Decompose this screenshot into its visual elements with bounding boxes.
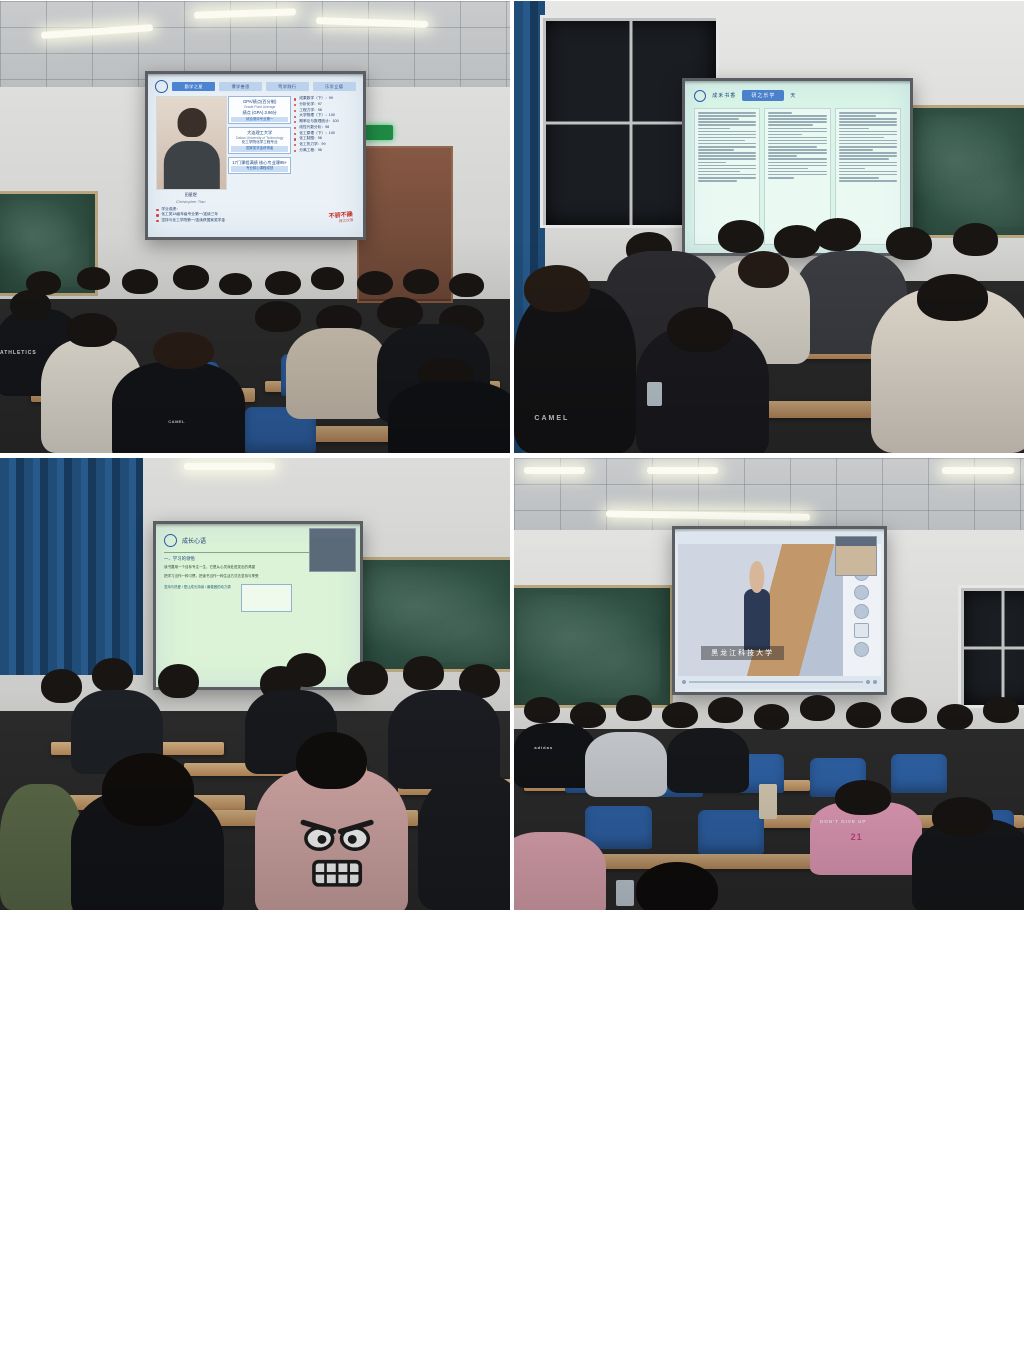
student-head [953,223,999,256]
fullscreen-icon[interactable] [873,680,877,684]
student-head [917,274,988,321]
screen-rail [682,78,912,81]
student-head [219,273,252,296]
student-head [311,267,344,290]
student-head [815,218,861,251]
jacket-text-dont-give-up: DON'T GIVE UP [820,819,866,824]
student-body [112,362,245,453]
jacket-number: 21 [851,832,863,842]
sidebar-thumb[interactable] [845,642,880,657]
slide-body: 田星煜 Christopher Tian 学业成绩： 化工类18级年级专业第一/… [151,94,359,234]
player-controls[interactable] [678,676,881,689]
student-head [774,225,820,258]
photo-collage: 勤学之星 博学善思 笃学践行 乐学立德 田星煜 Christopher Tian… [0,0,1024,1365]
sidebar-thumb-selected[interactable] [845,623,880,638]
slide-tab-4: 乐学立德 [313,82,356,91]
ceiling-light [942,467,1013,474]
classroom-scene-2: 成禾书香 研之乐学 天 [514,1,1024,453]
slide-profile: 勤学之星 博学善思 笃学践行 乐学立德 田星煜 Christopher Tian… [151,77,359,234]
student-head [636,862,718,910]
student-head [255,301,301,331]
thumbnail-icon [854,642,869,657]
student-name-cn: 田星煜 [156,192,225,197]
school-card: 大连理工大学 Dalian University of Technology 化… [228,127,291,154]
audience-area-4: adidas DON'T GIVE UP 21 [514,693,1024,910]
courses-title: 17门课程满绩 核心专业课95+ [231,160,288,166]
slide-note-2: 把学习当作一种习惯，把读书当作一种生活方式去坚持与享受 [164,574,352,580]
student-head [846,702,882,728]
student-head [357,271,393,296]
ceiling-light [647,467,718,474]
student-body [418,774,510,910]
classroom-scene-3: 成长心语 一、学习的领悟 读书要用一个目标专注一生，它是从心灵深处迸发出的渴望 … [0,458,510,910]
exit-sign [365,125,393,139]
student-name-en: Christopher Tian [156,199,225,204]
webcam-inset [309,528,356,572]
course-score: 分离工程：96 [294,148,354,154]
jacket-logo-camel: CAMEL [534,415,569,422]
student-head [718,220,764,253]
student-body [286,328,388,419]
student-head [173,265,209,290]
photo-middle-left: 成长心语 一、学习的领悟 读书要用一个目标专注一生，它是从心灵深处迸发出的渴望 … [0,458,510,910]
student-head [524,265,590,312]
student-head [524,697,560,723]
sidebar-thumb[interactable] [845,604,880,619]
student-body-adidas [514,723,596,788]
video-caption: 黑龙江科技大学 [701,646,784,660]
student-head [41,669,82,703]
chair [585,806,651,849]
student-head [92,658,133,692]
picture-in-picture-panel[interactable] [835,536,878,576]
slide-heading-primary: 成禾书香 [712,92,736,99]
student-head [738,251,789,289]
window-curtain [0,458,143,675]
student-head [153,332,214,370]
student-head [616,695,652,721]
slide-heading-secondary: 研之乐学 [742,90,784,101]
slide-illustration [241,584,292,612]
student-head [449,273,485,298]
ceiling-light [184,463,276,470]
student-head [932,797,993,836]
gpa-footer: 综合测评专业第一 [231,117,288,122]
classroom-scene-1: 勤学之星 博学善思 笃学践行 乐学立德 田星煜 Christopher Tian… [0,1,510,453]
slide-tab-3: 笃学践行 [266,82,309,91]
screen-rail [145,71,365,74]
thumbnail-icon [854,604,869,619]
play-icon[interactable] [682,680,686,684]
student-head [891,697,927,723]
student-body [0,784,82,910]
video-player: 黑龙江科技大学 [678,532,881,689]
photo-middle-right: 黑龙江科技大学 [514,458,1024,910]
audience-area-2: CAMEL [514,218,1024,453]
student-head [667,307,733,352]
student-head [286,653,327,687]
chair [698,810,764,853]
student-head [662,702,698,728]
speaker-figure [744,589,770,650]
jacket-logo-camel: CAMEL [168,419,185,424]
student-body [514,288,636,453]
audience-area-3 [0,648,510,910]
student-body [514,832,606,910]
slide-heading: 成长心语 [182,536,206,545]
gpa-value: 绩点 (GPA) 3.96分 [231,110,288,116]
ceiling-light [524,467,585,474]
school-major: 化工学院化学工程专业 [231,140,288,145]
student-head [570,702,606,728]
university-logo-icon [155,80,168,93]
courses-card: 17门课程满绩 核心专业课95+ 专业核心课程成绩 [228,157,291,174]
jacket-logo-athletics: ATHLETICS [0,350,37,356]
student-body [585,732,667,797]
projector-screen-4: 黑龙江科技大学 [672,526,887,695]
thermos [759,784,777,819]
slide-column-cards: GPA/绩点(百分制) Grade Point Average 绩点 (GPA)… [228,96,291,230]
student-head [403,656,444,690]
slide-heading-extra: 天 [790,92,796,99]
photo-top-left: 勤学之星 博学善思 笃学践行 乐学立德 田星煜 Christopher Tian… [0,1,510,453]
slide-column-profile: 田星煜 Christopher Tian 学业成绩： 化工类18级年级专业第一/… [156,96,225,230]
student-body [667,728,749,793]
student-head [754,704,790,730]
student-head [403,269,439,294]
student-highlights: 学业成绩： 化工类18级年级专业第一/连续三年 坚持与化工学院第一/连续获国家奖… [156,207,225,224]
student-head [77,267,110,290]
student-head [886,227,932,260]
slide-tab-1: 勤学之星 [172,82,215,91]
water-bottle [616,880,634,906]
volume-icon[interactable] [866,680,870,684]
slide-stamp: 不骄不躁 持之以恒 [328,212,353,225]
sidebar-thumb[interactable] [845,585,880,600]
photo-top-right: 成禾书香 研之乐学 天 [514,1,1024,453]
student-head [937,704,973,730]
student-head [377,297,423,327]
blackboard [514,585,673,709]
progress-bar[interactable] [689,681,863,683]
screen-rail [153,521,363,524]
student-head [347,661,388,695]
slide-tabs: 勤学之星 博学善思 笃学践行 乐学立德 [151,77,359,94]
video-stage[interactable]: 黑龙江科技大学 [678,544,843,676]
highlight-item: 坚持与化工学院第一/连续获国家奖学金 [156,218,225,224]
thumbnail-icon [854,585,869,600]
screen-rail [672,526,887,529]
slide-column-scores: 成果数学（下）：99 分析化学：97 工程力学：98 大学物理（下）：100 概… [294,96,354,230]
student-head [265,271,301,296]
student-head [835,780,891,815]
audience-area-1: ATHLETICS CAMEL [0,263,510,453]
student-body [388,381,510,453]
student-head [983,697,1019,723]
courses-footer: 专业核心课程成绩 [231,166,288,171]
university-logo-icon [164,534,177,547]
window [958,585,1024,709]
student-head [158,664,199,698]
chair [891,754,947,793]
jacket-logo-adidas: adidas [534,745,553,750]
gpa-card: GPA/绩点(百分制) Grade Point Average 绩点 (GPA)… [228,96,291,124]
student-head [800,695,836,721]
water-bottle [647,382,662,406]
student-head [708,697,744,723]
school-footer: 国家奖学金获得者 [231,146,288,151]
student-head [26,271,62,296]
student-head [122,269,158,294]
classroom-scene-4: 黑龙江科技大学 [514,458,1024,910]
student-portrait [156,96,227,190]
student-head [102,753,194,826]
student-head [66,313,117,347]
projector-screen-1: 勤学之星 博学善思 笃学践行 乐学立德 田星煜 Christopher Tian… [145,71,365,240]
thumbnail-icon [854,623,869,638]
university-logo-icon [694,90,706,102]
course-score-list: 成果数学（下）：99 分析化学：97 工程力学：98 大学物理（下）：100 概… [294,96,354,153]
slide-tab-2: 博学善思 [219,82,262,91]
hoodie-cartoon-face-graphic [281,810,393,899]
slide-heading-row: 成禾书香 研之乐学 天 [688,84,906,108]
slide-quote-box: 坚持与热爱 / 是让成长持续 / 最稳固的动力源 [164,584,231,590]
student-head [296,732,367,790]
